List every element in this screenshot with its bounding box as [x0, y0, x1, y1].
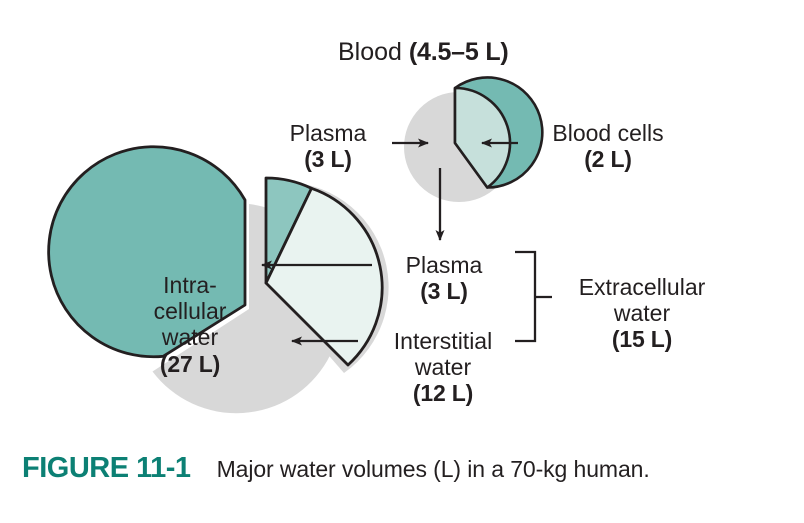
label-plasma-top: Plasma (3 L)	[258, 120, 398, 172]
label-intracellular-line2: cellular	[128, 298, 252, 324]
label-extracellular-value: (15 L)	[556, 326, 728, 352]
label-interstitial: Interstitial water (12 L)	[368, 328, 518, 407]
top-chart-title: Blood (4.5–5 L)	[338, 38, 509, 67]
top-pie-chart	[404, 77, 542, 202]
label-extracellular-line1: Extracellular	[556, 274, 728, 300]
label-extracellular: Extracellular water (15 L)	[556, 274, 728, 353]
label-plasma-top-value: (3 L)	[258, 146, 398, 172]
label-plasma-bottom-value: (3 L)	[382, 278, 506, 304]
figure-caption-text: Major water volumes (L) in a 70-kg human…	[217, 456, 650, 483]
figure-caption: FIGURE 11-1 Major water volumes (L) in a…	[22, 452, 650, 485]
label-plasma-top-text: Plasma	[258, 120, 398, 146]
label-intracellular-line1: Intra-	[128, 272, 252, 298]
figure-number: FIGURE 11-1	[22, 452, 191, 485]
label-plasma-bottom: Plasma (3 L)	[382, 252, 506, 304]
top-chart-title-text: Blood	[338, 38, 409, 66]
label-intracellular-value: (27 L)	[128, 351, 252, 377]
label-blood-cells-text: Blood cells	[524, 120, 692, 146]
bracket-extracellular	[515, 252, 535, 341]
label-blood-cells: Blood cells (2 L)	[524, 120, 692, 172]
figure-container: Blood (4.5–5 L) Plasma (3 L) Blood cells…	[0, 0, 804, 523]
label-intracellular-line3: water	[128, 324, 252, 350]
label-interstitial-line2: water	[368, 354, 518, 380]
label-plasma-bottom-text: Plasma	[382, 252, 506, 278]
label-extracellular-line2: water	[556, 300, 728, 326]
label-interstitial-value: (12 L)	[368, 380, 518, 406]
label-interstitial-line1: Interstitial	[368, 328, 518, 354]
top-chart-title-value: (4.5–5 L)	[409, 38, 509, 66]
label-blood-cells-value: (2 L)	[524, 146, 692, 172]
label-intracellular: Intra- cellular water (27 L)	[128, 272, 252, 377]
